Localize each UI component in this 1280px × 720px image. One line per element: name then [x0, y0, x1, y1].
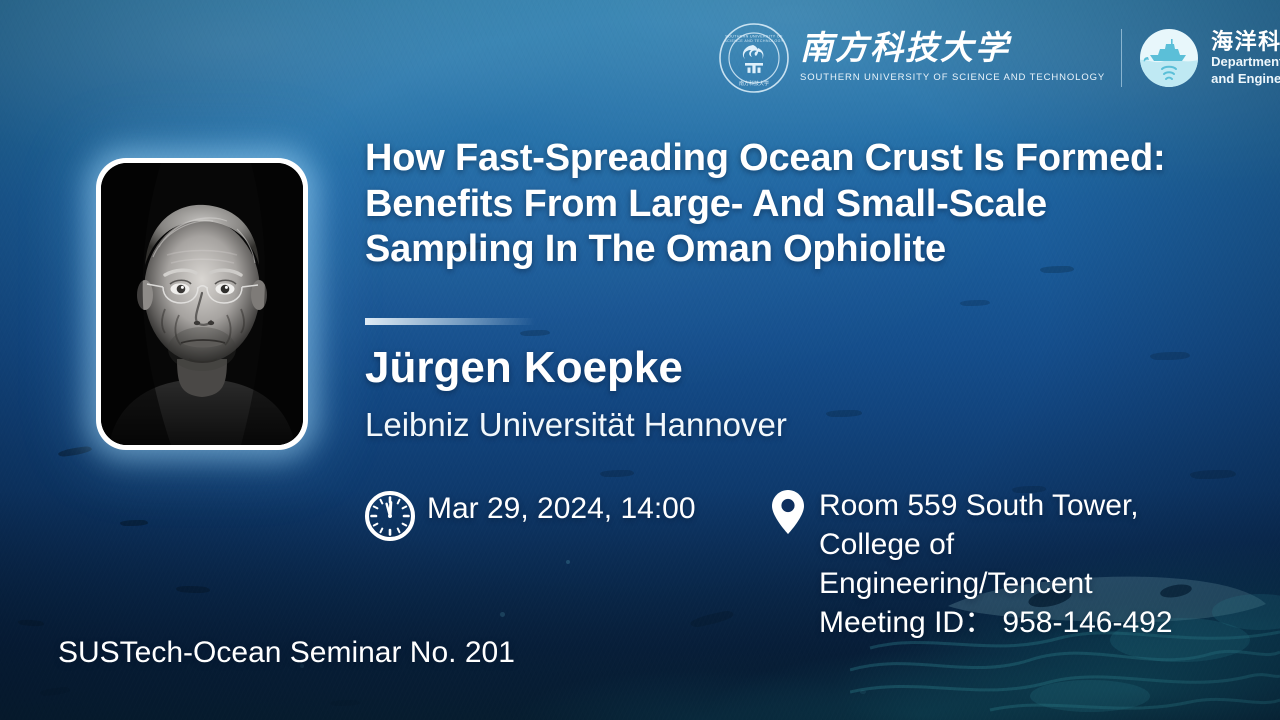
- speaker-affiliation: Leibniz Universität Hannover: [365, 405, 787, 445]
- fish-silhouette: [689, 610, 734, 629]
- location-line-3: Engineering/Tencent: [819, 564, 1173, 603]
- sustech-english-name: SOUTHERN UNIVERSITY OF SCIENCE AND TECHN…: [800, 72, 1105, 83]
- fish-silhouette: [1150, 352, 1190, 360]
- map-pin-icon: [769, 488, 807, 536]
- datetime-block: Mar 29, 2024, 14:00: [365, 489, 696, 541]
- location-block: Room 559 South Tower, College of Enginee…: [766, 486, 1246, 642]
- talk-title: How Fast-Spreading Ocean Crust Is Formed…: [365, 136, 1210, 273]
- ocean-chinese-name: 海洋科学与工程系: [1211, 30, 1280, 53]
- ocean-department-wordmark: 海洋科学与工程系 Department of Ocean Science and…: [1211, 30, 1280, 87]
- fish-silhouette: [826, 410, 862, 417]
- fish-silhouette: [120, 520, 148, 526]
- title-divider-rule: [365, 318, 535, 325]
- speaker-portrait: [101, 163, 303, 445]
- clock-icon: [365, 491, 415, 541]
- sustech-wordmark: 南方科技大学 SOUTHERN UNIVERSITY OF SCIENCE AN…: [800, 33, 1105, 83]
- sustech-chinese-name: 南方科技大学: [800, 33, 1105, 66]
- logo-divider: [1121, 29, 1122, 87]
- fish-silhouette: [58, 446, 93, 458]
- fish-silhouette: [960, 300, 990, 306]
- seminar-series-label: SUSTech-Ocean Seminar No. 201: [58, 636, 515, 670]
- location-lines: Room 559 South Tower, College of Enginee…: [807, 486, 1173, 642]
- fish-silhouette: [18, 619, 44, 628]
- fish-silhouette: [600, 470, 634, 477]
- plankton-speck: [860, 690, 866, 694]
- location-line-4: Meeting ID： 958-146-492: [819, 603, 1173, 642]
- plankton-speck: [566, 560, 570, 564]
- svg-text:SCIENCE AND TECHNOLOGY: SCIENCE AND TECHNOLOGY: [724, 39, 783, 43]
- location-line-2: College of: [819, 525, 1173, 564]
- logo-bar: SOUTHERN UNIVERSITY OF SCIENCE AND TECHN…: [718, 22, 1280, 94]
- fish-silhouette: [330, 700, 360, 706]
- svg-text:南方科技大学: 南方科技大学: [739, 80, 769, 87]
- ocean-english-line1: Department of Ocean Science: [1211, 55, 1280, 70]
- ocean-english-line2: and Engineering: [1211, 72, 1280, 87]
- portrait-illustration: [101, 163, 303, 445]
- seminar-poster: SOUTHERN UNIVERSITY OF SCIENCE AND TECHN…: [0, 0, 1280, 720]
- datetime-text: Mar 29, 2024, 14:00: [427, 489, 696, 528]
- location-line-1: Room 559 South Tower,: [819, 486, 1173, 525]
- speaker-portrait-frame: [96, 158, 308, 450]
- fish-silhouette: [176, 585, 210, 594]
- fish-silhouette: [1190, 470, 1236, 479]
- plankton-speck: [500, 612, 505, 617]
- speaker-name: Jürgen Koepke: [365, 343, 683, 392]
- fish-silhouette: [40, 687, 70, 697]
- ocean-ship-sonar-icon: [1138, 27, 1200, 89]
- fish-silhouette: [520, 330, 550, 336]
- sustech-seal-icon: SOUTHERN UNIVERSITY OF SCIENCE AND TECHN…: [718, 22, 790, 94]
- svg-text:SOUTHERN UNIVERSITY OF: SOUTHERN UNIVERSITY OF: [725, 35, 783, 39]
- ocean-department-logo: 海洋科学与工程系 Department of Ocean Science and…: [1138, 27, 1280, 89]
